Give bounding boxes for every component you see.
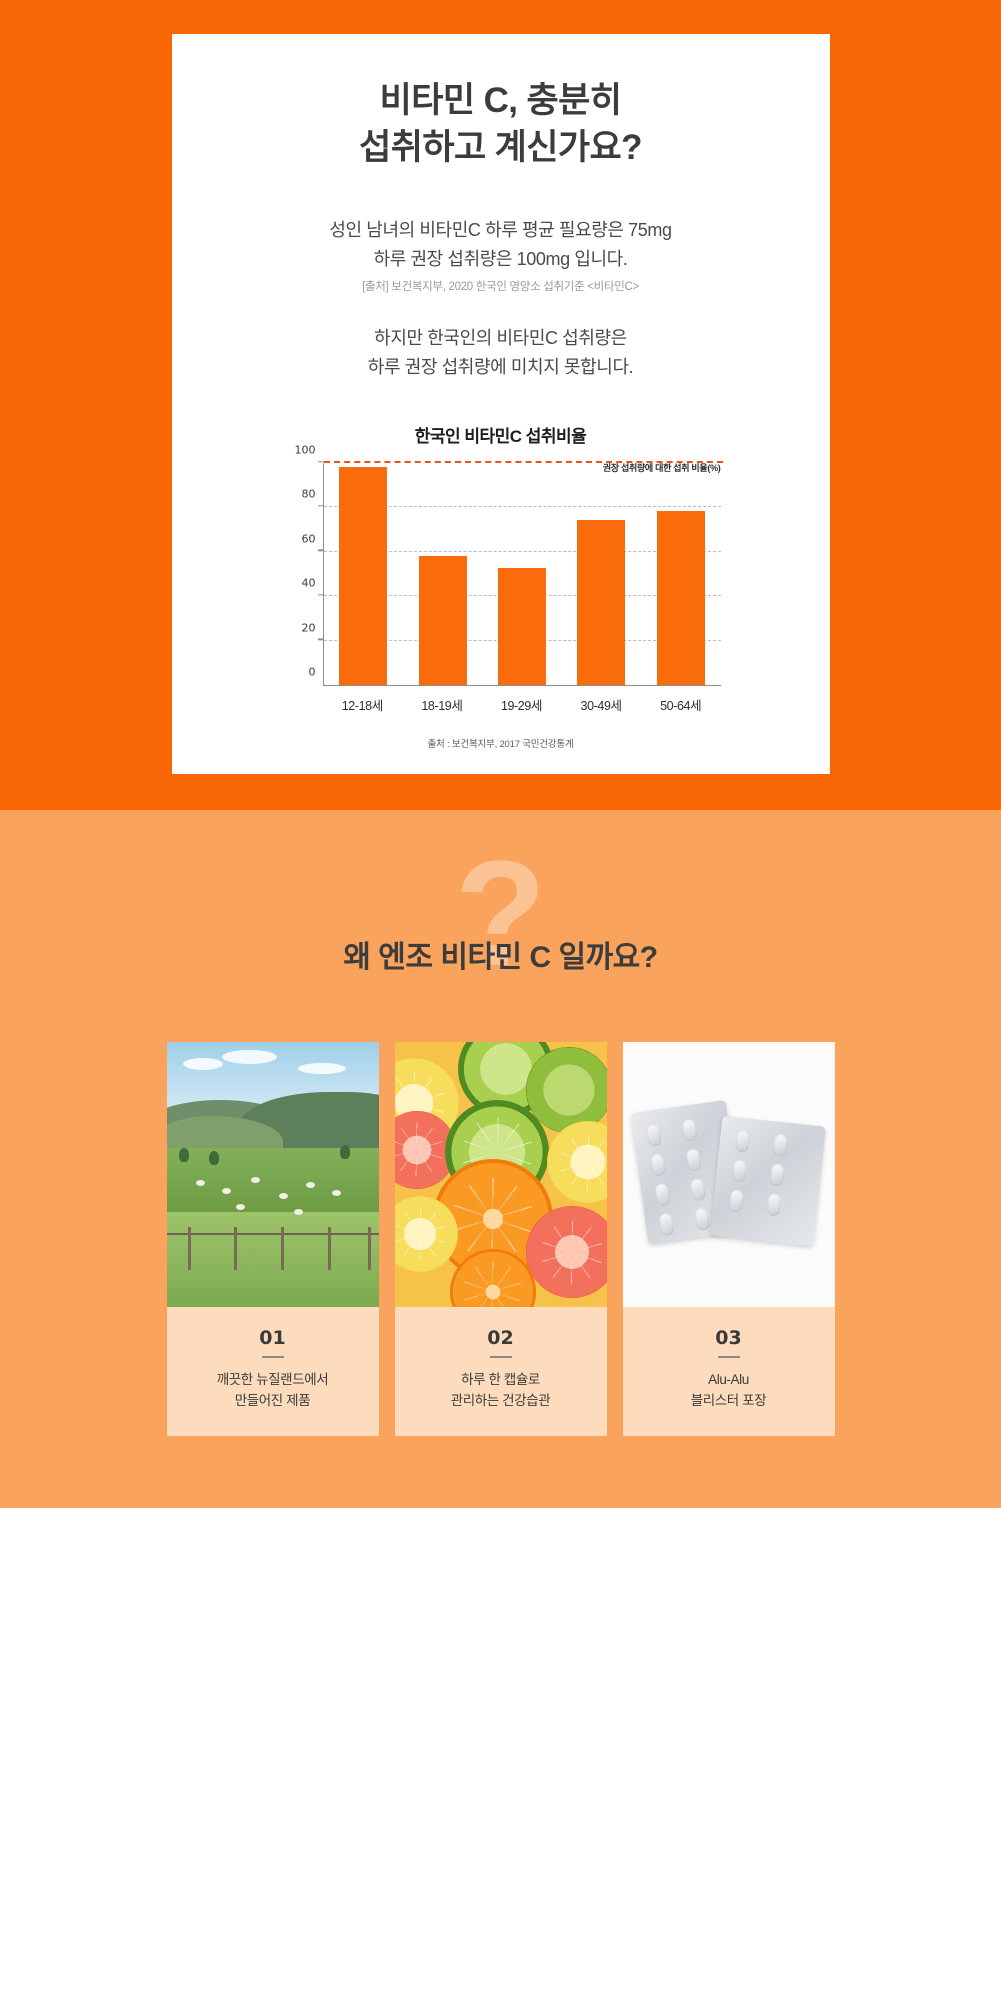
feature-card-01-text-line-2: 만들어진 제품 [173,1391,373,1412]
divider [718,1356,740,1358]
hero-card: 비타민 C, 충분히 섭취하고 계신가요? 성인 남녀의 비타민C 하루 평균 … [172,34,830,774]
hero-subtitle-line-2: 하루 권장 섭취량은 100mg 입니다. [172,245,830,274]
y-tick-label-0: 0 [282,665,316,678]
hero-secondary-line-2: 하루 권장 섭취량에 미치지 못합니다. [172,353,830,382]
bar-19-29 [498,568,546,685]
chart-source: 출처 : 보건복지부, 2017 국민건강통계 [281,736,721,750]
feature-card-list: 01 깨끗한 뉴질랜드에서 만들어진 제품 [0,1042,1001,1436]
bar-group [324,463,721,685]
page-title-line-1: 비타민 C, 충분히 [172,78,830,125]
y-tick-label-80: 80 [282,488,316,501]
x-axis-labels: 12-18세 18-19세 19-29세 30-49세 50-64세 [323,695,721,714]
why-section: ? 왜 엔조 비타민 C 일까요? [0,810,1001,1508]
page-title: 비타민 C, 충분히 섭취하고 계신가요? [172,78,830,172]
hero-secondary-line-1: 하지만 한국인의 비타민C 섭취량은 [172,324,830,353]
chart-plot-area: 100 80 60 40 20 0 [323,463,721,686]
why-section-title: 왜 엔조 비타민 C 일까요? [0,932,1001,976]
page-title-line-2: 섭취하고 계신가요? [172,125,830,172]
feature-card-01[interactable]: 01 깨끗한 뉴질랜드에서 만들어진 제품 [167,1042,379,1436]
y-tick-label-40: 40 [282,577,316,590]
feature-card-02-text-line-2: 관리하는 건강습관 [401,1391,601,1412]
feature-card-01-number: 01 [173,1327,373,1349]
x-tick-label-0: 12-18세 [324,695,400,714]
feature-card-02-number: 02 [401,1327,601,1349]
feature-card-01-text: 깨끗한 뉴질랜드에서 만들어진 제품 [173,1370,373,1412]
feature-card-03-text: Alu-Alu 블리스터 포장 [629,1370,829,1412]
y-tick-label-100: 100 [282,443,316,456]
hero-citation: [출처] 보건복지부, 2020 한국인 영양소 섭취기준 <비타민C> [172,278,830,294]
x-tick-label-1: 18-19세 [404,695,480,714]
divider [262,1356,284,1358]
feature-card-03-number: 03 [629,1327,829,1349]
chart-title: 한국인 비타민C 섭취비율 [172,422,830,447]
new-zealand-pasture-photo [167,1042,379,1307]
hero-section: 비타민 C, 충분히 섭취하고 계신가요? 성인 남녀의 비타민C 하루 평균 … [0,0,1001,810]
bar-18-19 [419,556,467,685]
bar-30-49 [577,520,625,685]
feature-card-01-text-line-1: 깨끗한 뉴질랜드에서 [173,1370,373,1391]
hero-subtitle-line-1: 성인 남녀의 비타민C 하루 평균 필요량은 75mg [172,216,830,245]
y-tick-label-20: 20 [282,621,316,634]
bar-50-64 [657,511,705,685]
feature-card-02-text-line-1: 하루 한 캡슐로 [401,1370,601,1391]
feature-card-02-text: 하루 한 캡슐로 관리하는 건강습관 [401,1370,601,1412]
hero-secondary-text: 하지만 한국인의 비타민C 섭취량은 하루 권장 섭취량에 미치지 못합니다. [172,324,830,382]
hero-subtitle: 성인 남녀의 비타민C 하루 평균 필요량은 75mg 하루 권장 섭취량은 1… [172,216,830,274]
x-tick-label-2: 19-29세 [483,695,559,714]
y-tick-label-60: 60 [282,532,316,545]
feature-card-03-text-line-2: 블리스터 포장 [629,1391,829,1412]
blister-pack-photo [623,1042,835,1307]
feature-card-01-body: 01 깨끗한 뉴질랜드에서 만들어진 제품 [167,1307,379,1436]
x-tick-label-3: 30-49세 [563,695,639,714]
bar-12-18 [339,467,387,685]
product-detail-page: 비타민 C, 충분히 섭취하고 계신가요? 성인 남녀의 비타민C 하루 평균 … [0,0,1001,1508]
citrus-fruits-photo [395,1042,607,1307]
x-tick-label-4: 50-64세 [643,695,719,714]
feature-card-02[interactable]: 02 하루 한 캡슐로 관리하는 건강습관 [395,1042,607,1436]
feature-card-02-body: 02 하루 한 캡슐로 관리하는 건강습관 [395,1307,607,1436]
feature-card-03[interactable]: 03 Alu-Alu 블리스터 포장 [623,1042,835,1436]
intake-ratio-bar-chart: 권장 섭취량에 대한 섭취 비율(%) 100 80 60 40 20 0 [281,463,721,750]
feature-card-03-text-line-1: Alu-Alu [629,1370,829,1391]
divider [490,1356,512,1358]
feature-card-03-body: 03 Alu-Alu 블리스터 포장 [623,1307,835,1436]
